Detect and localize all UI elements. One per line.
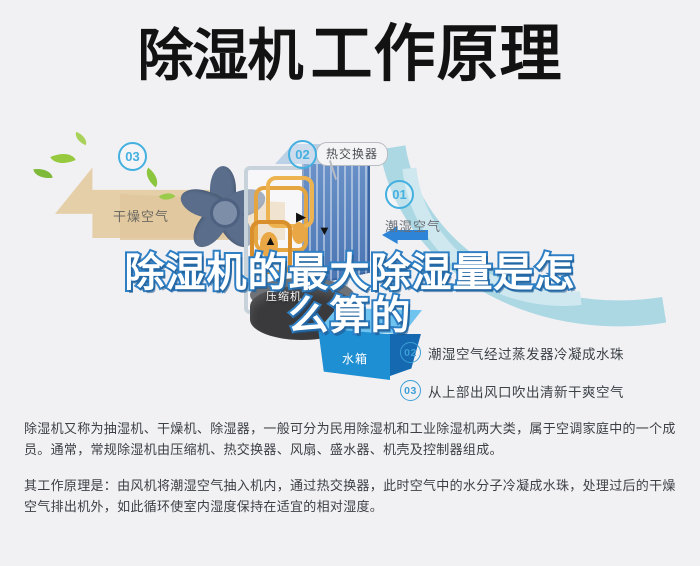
flow-arrow-right-icon: ▶ — [296, 210, 306, 223]
water-tank-label: 水箱 — [342, 350, 368, 367]
legend-number: 02 — [400, 342, 421, 363]
leaf-icon — [142, 168, 163, 188]
fan-hub — [210, 198, 240, 228]
step-badge-dry-air: 03 — [118, 142, 147, 171]
page-title-part-b: 工作原理 — [310, 20, 562, 89]
legend-list: 01 潮湿空气由机器侧面吸风口吸入 02 潮湿空气经过蒸发器冷凝成水珠 03 从… — [400, 304, 690, 418]
leaf-icon — [50, 148, 75, 169]
step-badge-humid-air: 01 — [385, 180, 414, 209]
legend-text: 从上部出风口吹出清新干爽空气 — [428, 381, 624, 401]
page-title: 除湿机工作原理 — [0, 24, 700, 86]
leaf-icon — [33, 167, 52, 180]
legend-item: 03 从上部出风口吹出清新干爽空气 — [400, 380, 690, 401]
body-paragraph-2: 其工作原理是：由风机将潮湿空气抽入机内，通过热交换器，此时空气中的水分子冷凝成水… — [24, 475, 678, 517]
body-paragraph-1: 除湿机又称为抽湿机、干燥机、除湿器，一般可分为民用除湿机和工业除湿机两大类，属于… — [24, 418, 678, 460]
page-title-part-a: 除湿机 — [137, 24, 302, 87]
legend-number: 03 — [400, 380, 421, 401]
heat-exchanger-callout: 热交换器 — [316, 142, 388, 166]
humid-air-label: 潮湿空气 — [385, 216, 441, 235]
compressor-label: 压缩机 — [266, 288, 302, 304]
dry-air-label: 干燥空气 — [113, 206, 169, 225]
legend-item: 01 潮湿空气由机器侧面吸风口吸入 — [400, 304, 690, 325]
leaf-icon — [73, 132, 89, 146]
flow-arrow-up-icon: ▲ — [264, 234, 277, 247]
step-badge-heat-exchanger: 02 — [288, 140, 317, 169]
article-body: 除湿机又称为抽湿机、干燥机、除湿器，一般可分为民用除湿机和工业除湿机两大类，属于… — [24, 418, 678, 517]
infographic-page: 除湿机工作原理 干燥空气 — [0, 0, 700, 566]
legend-item: 02 潮湿空气经过蒸发器冷凝成水珠 — [400, 342, 690, 363]
refrigerant-valve — [292, 222, 306, 244]
legend-text: 潮湿空气经过蒸发器冷凝成水珠 — [428, 343, 624, 363]
flow-arrow-down-icon: ▼ — [318, 224, 331, 237]
